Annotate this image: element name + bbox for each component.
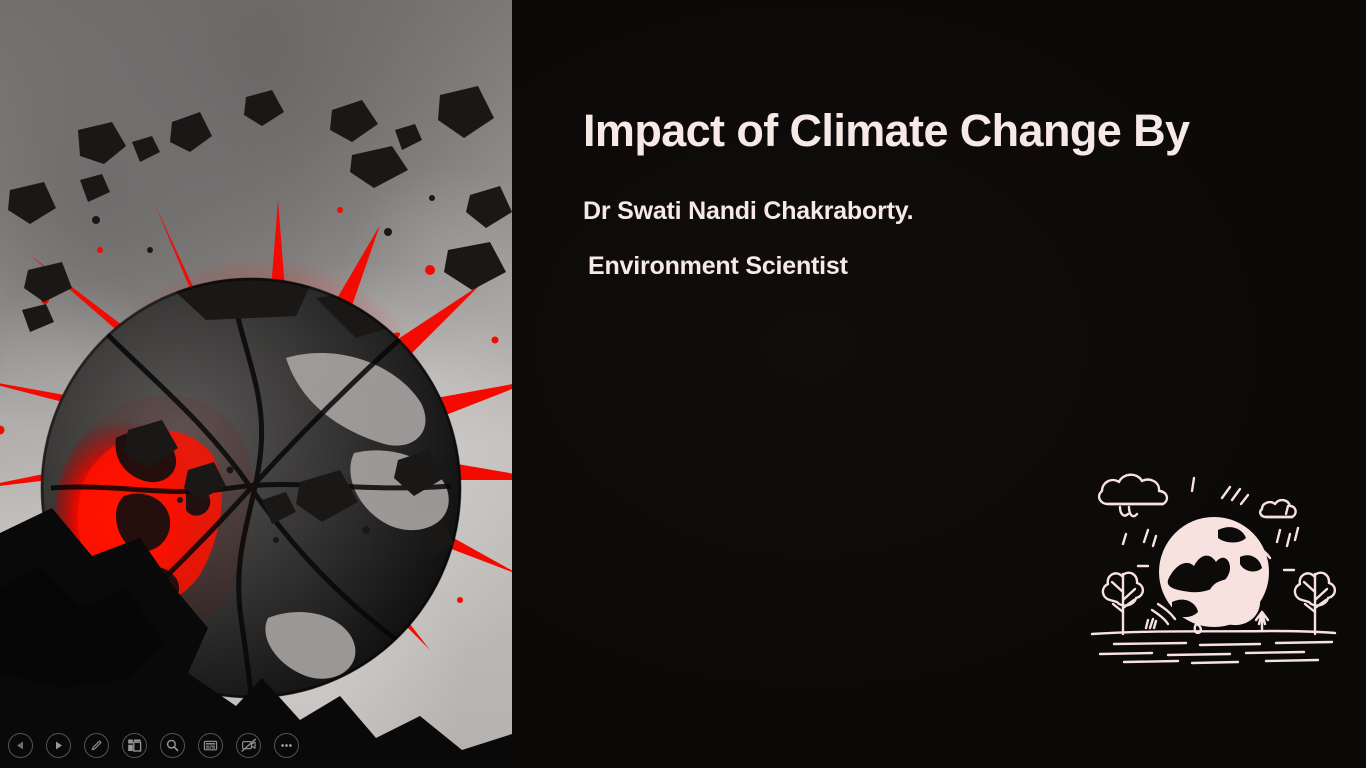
zoom-button[interactable] <box>160 733 185 758</box>
magnifier-icon <box>165 738 180 753</box>
earth-doodle-illustration <box>1090 462 1338 670</box>
page-title: Impact of Climate Change By <box>583 100 1283 162</box>
foreground-rocks-graphic <box>0 438 512 768</box>
slide-layout-button[interactable] <box>122 733 147 758</box>
triangle-left-icon <box>14 739 27 752</box>
more-options-button[interactable] <box>274 733 299 758</box>
camera-off-icon <box>241 737 257 753</box>
climate-globe-photo <box>0 0 512 768</box>
slide-text-block: Impact of Climate Change By Dr Swati Nan… <box>583 100 1283 281</box>
ellipsis-icon <box>279 738 294 753</box>
subtitles-icon <box>203 738 218 753</box>
camera-off-button[interactable] <box>236 733 261 758</box>
grid-layout-icon <box>127 738 142 753</box>
presenter-name: Dr Swati Nandi Chakraborty. <box>583 197 1283 226</box>
presentation-slide: Impact of Climate Change By Dr Swati Nan… <box>0 0 1366 768</box>
presentation-toolbar <box>0 722 299 768</box>
pen-icon <box>89 738 104 753</box>
slide-content-panel: Impact of Climate Change By Dr Swati Nan… <box>512 0 1366 768</box>
next-slide-button[interactable] <box>46 733 71 758</box>
presenter-role: Environment Scientist <box>583 252 1283 281</box>
previous-slide-button[interactable] <box>8 733 33 758</box>
pen-tool-button[interactable] <box>84 733 109 758</box>
triangle-right-icon <box>52 739 65 752</box>
subtitles-button[interactable] <box>198 733 223 758</box>
